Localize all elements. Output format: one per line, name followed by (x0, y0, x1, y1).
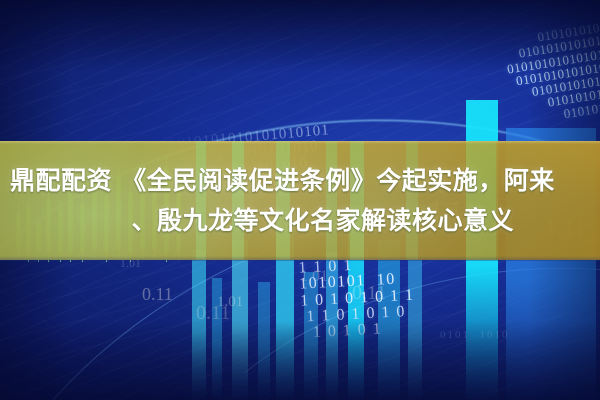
banner-image: 010101010 010101010101 01010101010101 01… (0, 0, 600, 400)
headline-line-1: 鼎配配资 《全民阅读促进条例》今起实施，阿来 (10, 161, 592, 201)
headline-text-block: 鼎配配资 《全民阅读促进条例》今起实施，阿来 、殷九龙等文化名家解读核心意义 (0, 141, 600, 260)
headline-line-2: 、殷九龙等文化名家解读核心意义 (10, 201, 592, 241)
